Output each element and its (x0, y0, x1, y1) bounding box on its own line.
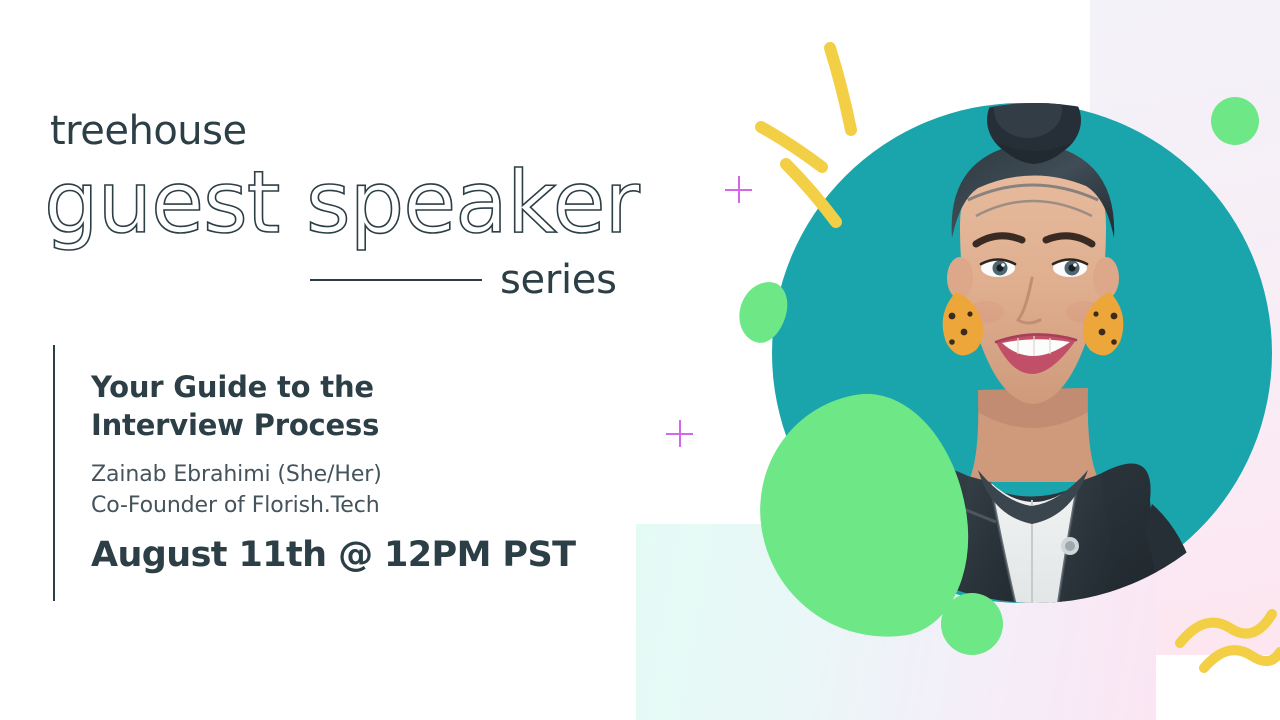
series-row: series (310, 255, 630, 305)
brand-wordmark: treehouse (50, 108, 247, 154)
event-datetime: August 11th @ 12PM PST (91, 535, 611, 575)
headline-guest-speaker: guest speaker (44, 158, 639, 248)
info-vertical-rule (53, 345, 55, 601)
promo-graphic: treehouse guest speaker series Your Guid… (0, 0, 1280, 720)
session-title: Your Guide to the Interview Process (91, 368, 611, 445)
plus-mark-icon (725, 176, 752, 203)
series-label: series (500, 257, 617, 303)
green-dot-shape (941, 593, 1003, 655)
speaker-details: Zainab Ebrahimi (She/Her) Co-Founder of … (91, 459, 611, 521)
plus-mark-icon (666, 420, 693, 447)
session-title-line-1: Your Guide to the (91, 368, 611, 406)
speaker-name: Zainab Ebrahimi (She/Her) (91, 459, 611, 490)
series-divider-rule (310, 279, 482, 281)
session-info-block: Your Guide to the Interview Process Zain… (91, 368, 611, 575)
session-title-line-2: Interview Process (91, 406, 611, 444)
speaker-role: Co-Founder of Florish.Tech (91, 490, 611, 521)
